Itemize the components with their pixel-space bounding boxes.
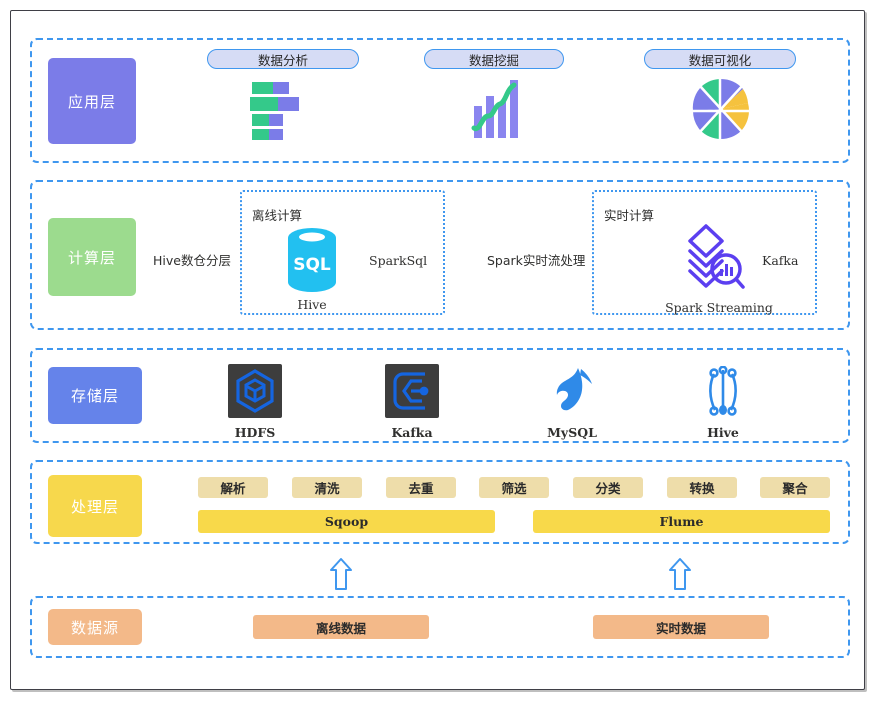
layer-chip-source: 数据源	[48, 609, 142, 645]
layer-chip-storage: 存储层	[48, 367, 142, 424]
layer-chip-application: 应用层	[48, 58, 136, 144]
caption-hive-storage: Hive	[686, 425, 760, 440]
process-chip-filter[interactable]: 筛选	[479, 477, 549, 498]
label-spark-realtime-stream: Spark实时流处理	[487, 250, 585, 269]
layer-chip-processing: 处理层	[48, 475, 142, 537]
sql-database-icon: SQL	[284, 228, 340, 292]
group-title-offline-compute: 离线计算	[252, 205, 302, 224]
caption-mysql: MySQL	[535, 425, 609, 440]
pie-chart-icon	[690, 78, 752, 140]
pill-data-visualization[interactable]: 数据可视化	[644, 49, 796, 69]
hive-bee-icon	[700, 366, 746, 418]
source-chip-realtime-data[interactable]: 实时数据	[593, 615, 769, 639]
arrow-offline-up	[329, 557, 353, 591]
caption-hdfs: HDFS	[218, 425, 292, 440]
process-chip-clean[interactable]: 清洗	[292, 477, 362, 498]
spark-streaming-icon	[688, 224, 750, 296]
process-chip-transform[interactable]: 转换	[667, 477, 737, 498]
label-sparksql: SparkSql	[369, 253, 427, 268]
bar-line-chart-icon	[468, 78, 528, 140]
caption-kafka-storage: Kafka	[375, 425, 449, 440]
label-kafka-compute: Kafka	[762, 253, 798, 268]
process-chip-parse[interactable]: 解析	[198, 477, 268, 498]
process-bar-sqoop[interactable]: Sqoop	[198, 510, 495, 533]
process-chip-classify[interactable]: 分类	[573, 477, 643, 498]
process-chip-aggregate[interactable]: 聚合	[760, 477, 830, 498]
kafka-logo-icon	[385, 364, 439, 418]
layer-chip-compute: 计算层	[48, 218, 136, 296]
caption-hive: Hive	[284, 297, 340, 312]
process-bar-flume[interactable]: Flume	[533, 510, 830, 533]
source-chip-offline-data[interactable]: 离线数据	[253, 615, 429, 639]
mysql-dolphin-icon	[548, 366, 596, 418]
pill-data-analysis[interactable]: 数据分析	[207, 49, 359, 69]
process-chip-dedup[interactable]: 去重	[386, 477, 456, 498]
diagram-canvas: 应用层 数据分析 数据挖掘 数据可视化	[0, 0, 882, 703]
label-hive-warehouse-tiers: Hive数仓分层	[153, 250, 231, 269]
group-title-realtime-compute: 实时计算	[604, 205, 654, 224]
pill-data-mining[interactable]: 数据挖掘	[424, 49, 564, 69]
hdfs-logo-icon	[228, 364, 282, 418]
svg-text:SQL: SQL	[293, 255, 331, 275]
arrow-realtime-up	[668, 557, 692, 591]
caption-spark-streaming: Spark Streaming	[654, 300, 784, 315]
stacked-bar-chart-icon	[246, 80, 316, 140]
